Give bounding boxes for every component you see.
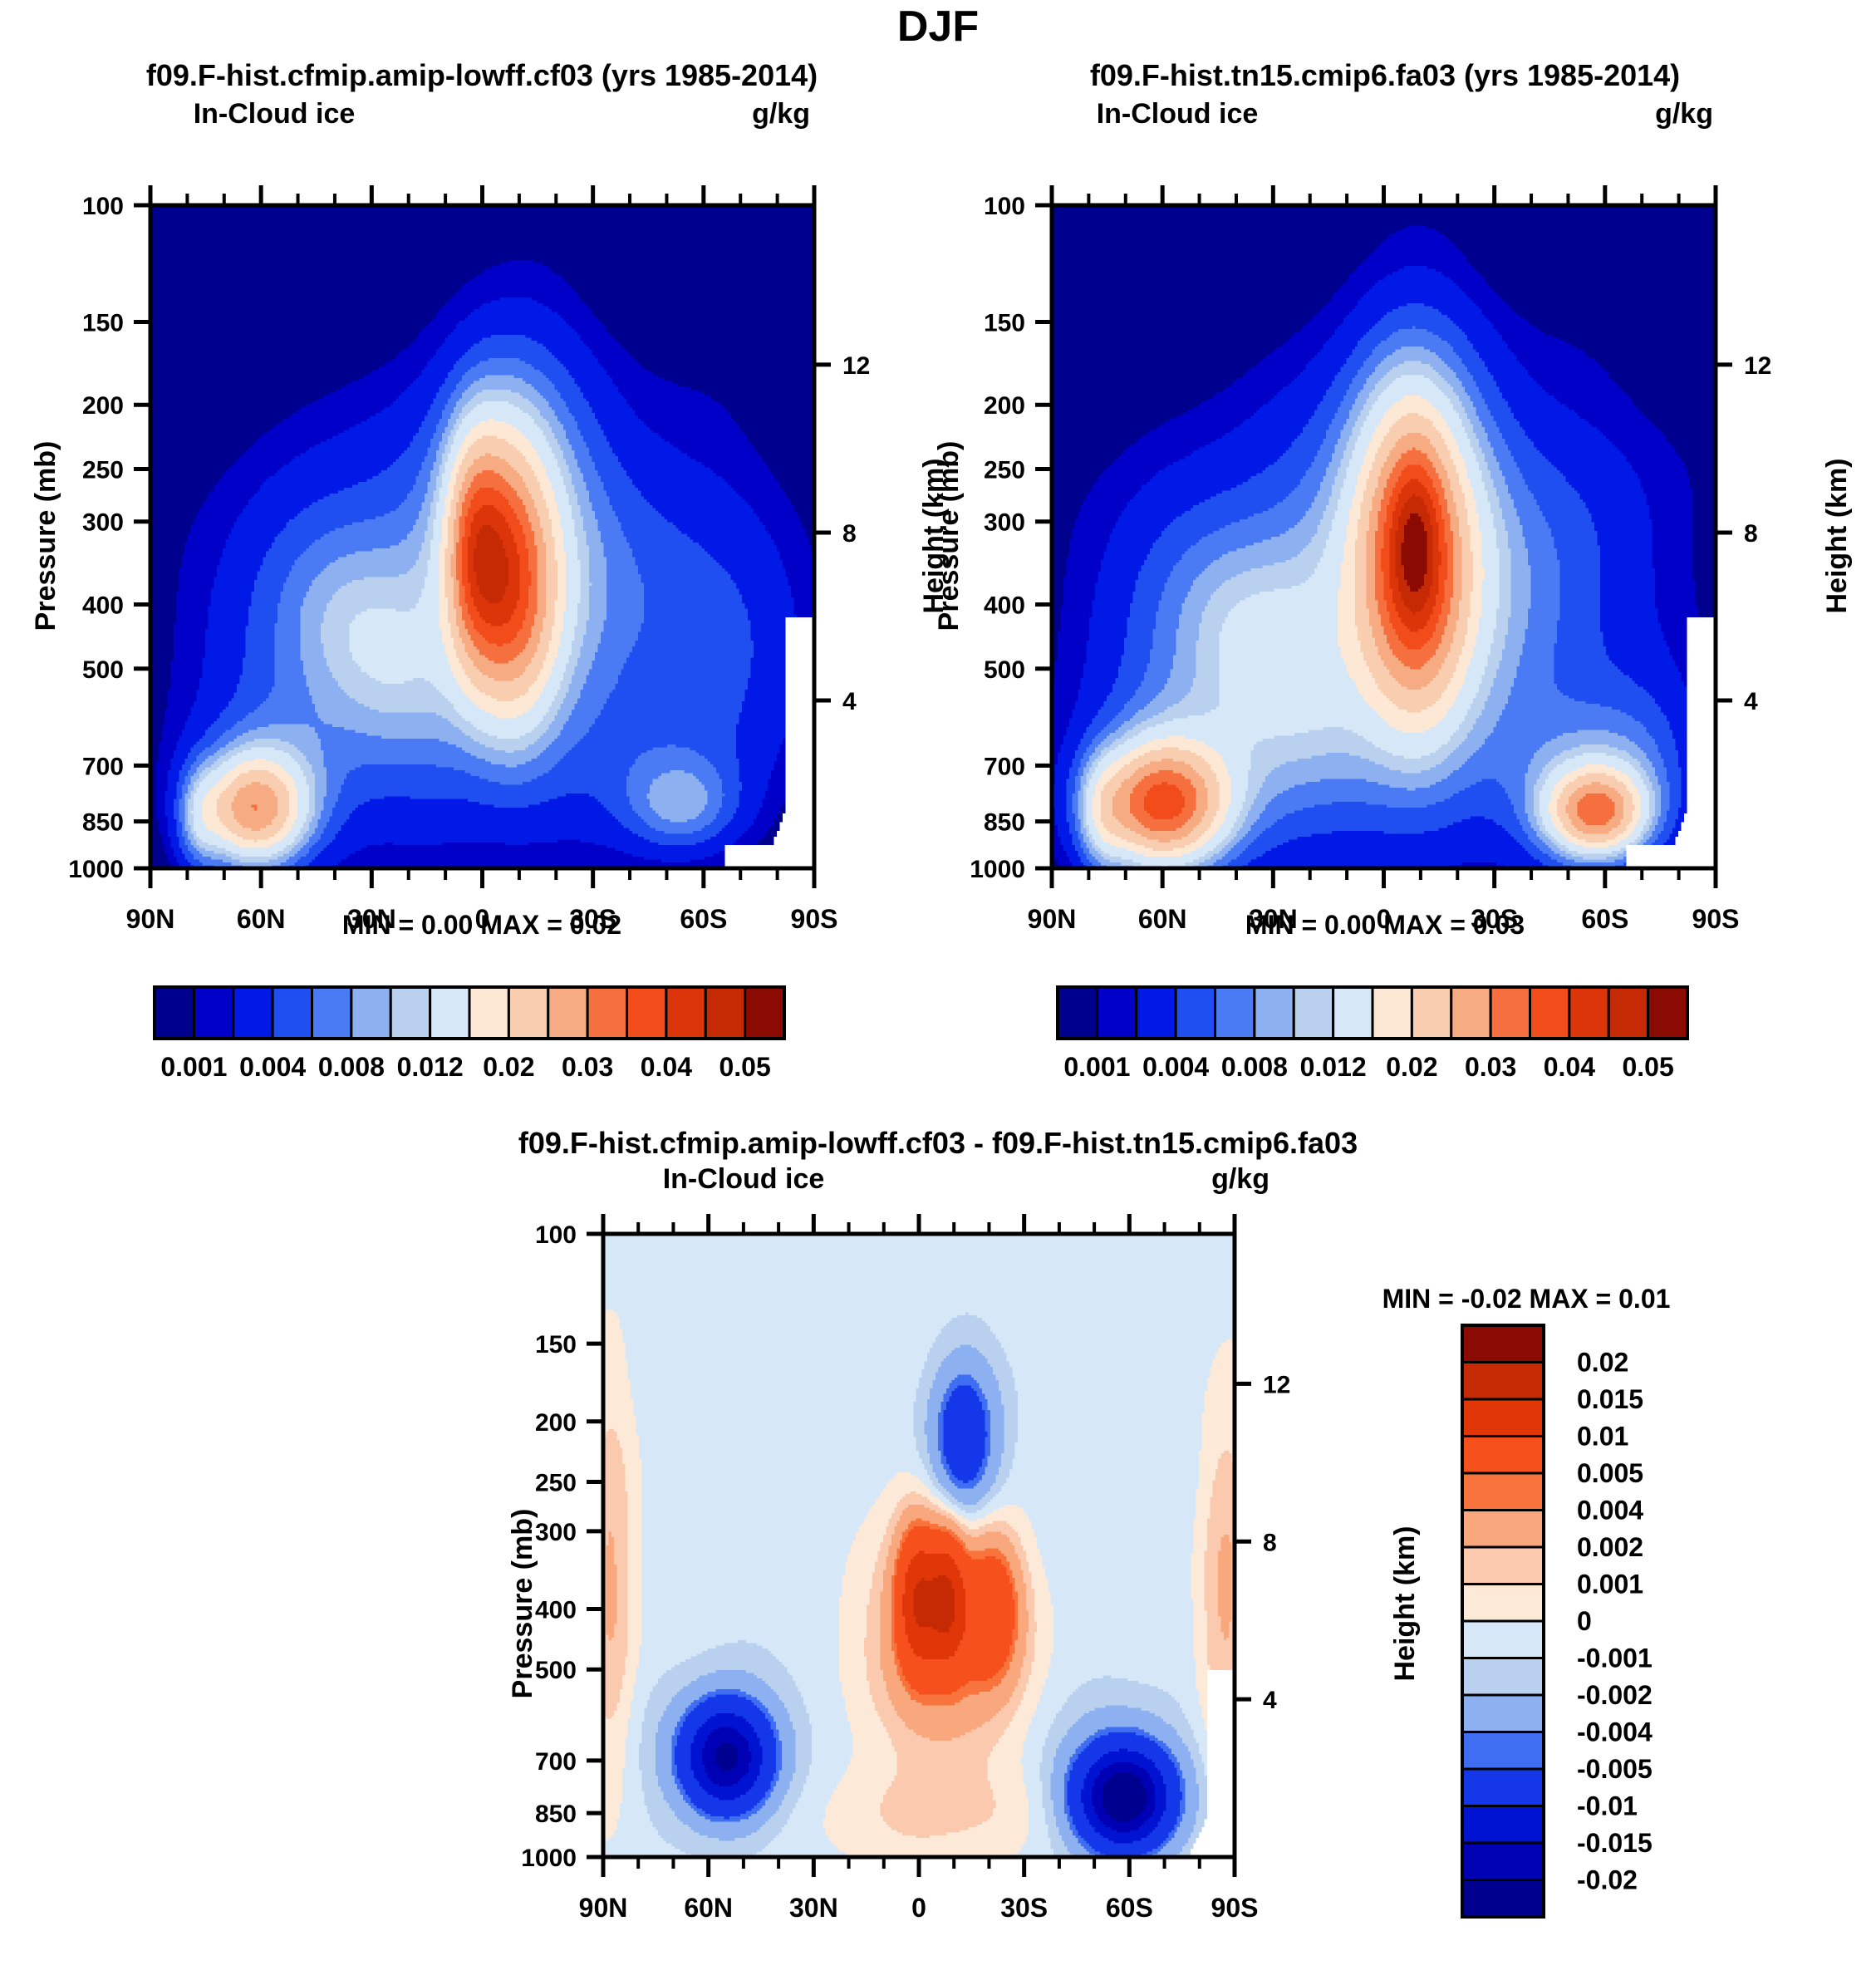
colorbar-diff-label-13: -0.015: [1577, 1828, 1653, 1858]
colorbar-label-0.004: 0.004: [239, 1052, 306, 1082]
colorbar-diff-label-2: 0.01: [1577, 1422, 1628, 1452]
colorbar-cell-10: [508, 987, 548, 1039]
colorbar-label-0.012: 0.012: [397, 1052, 464, 1082]
pressure-tick-100: 100: [535, 1221, 577, 1249]
colorbar-diff-label-10: -0.004: [1577, 1717, 1653, 1747]
contour-fill: [150, 205, 815, 869]
colorbar-cell-15: [705, 987, 744, 1039]
colorbar-cell-2: [1097, 987, 1136, 1039]
colorbar-label-0.001: 0.001: [1063, 1052, 1130, 1082]
colorbar-cell-5: [1215, 987, 1255, 1039]
pressure-tick-400: 400: [82, 592, 124, 619]
colorbar-cell-6: [351, 987, 390, 1039]
lat-tick-30N: 30N: [1249, 904, 1298, 934]
colorbar-vertical: 0.020.0150.010.0050.0040.0020.0010-0.001…: [1462, 1325, 1653, 1917]
colorbar-cell-9: [469, 987, 508, 1039]
colorbar-diff-cell-10: [1462, 1658, 1544, 1696]
colorbar-diff-label-4: 0.004: [1577, 1496, 1643, 1526]
lat-tick-90N: 90N: [579, 1893, 628, 1923]
colorbar-diff-label-12: -0.01: [1577, 1791, 1638, 1821]
height-tick-12: 12: [1744, 352, 1771, 380]
colorbar-cell-16: [1648, 987, 1687, 1039]
colorbar-diff-cell-16: [1462, 1880, 1544, 1918]
plot-right: 1001502002503004005007008501000128490N60…: [938, 0, 1876, 1105]
colorbar-cell-7: [390, 987, 430, 1039]
pressure-tick-1000: 1000: [970, 856, 1025, 883]
colorbar-diff-label-7: 0: [1577, 1606, 1592, 1636]
height-tick-4: 4: [1263, 1687, 1277, 1714]
pressure-tick-100: 100: [984, 193, 1025, 220]
colorbar-cell-1: [1058, 987, 1097, 1039]
colorbar-diff-label-1: 0.015: [1577, 1384, 1643, 1414]
colorbar-diff-cell-7: [1462, 1547, 1544, 1584]
contour-fill: [603, 1234, 1235, 1858]
colorbar-diff-label-3: 0.005: [1577, 1458, 1643, 1488]
lat-tick-90S: 90S: [1692, 904, 1740, 934]
colorbar-diff-cell-13: [1462, 1769, 1544, 1806]
pressure-tick-700: 700: [535, 1748, 577, 1776]
colorbar-cell-8: [430, 987, 469, 1039]
colorbar-label-0.012: 0.012: [1300, 1052, 1367, 1082]
colorbar-horizontal: 0.0010.0040.0080.0120.020.030.040.05: [155, 987, 784, 1082]
pressure-tick-300: 300: [82, 509, 124, 537]
pressure-tick-850: 850: [535, 1801, 577, 1828]
pressure-tick-150: 150: [535, 1331, 577, 1358]
colorbar-label-0.05: 0.05: [719, 1052, 770, 1082]
lat-tick-90N: 90N: [1028, 904, 1077, 934]
colorbar-diff-cell-3: [1462, 1399, 1544, 1437]
colorbar-diff-label-8: -0.001: [1577, 1643, 1653, 1673]
colorbar-diff-cell-1: [1462, 1325, 1544, 1363]
colorbar-cell-8: [1333, 987, 1373, 1039]
pressure-tick-150: 150: [984, 310, 1025, 337]
pressure-tick-300: 300: [984, 509, 1025, 537]
colorbar-label-0.004: 0.004: [1142, 1052, 1209, 1082]
pressure-tick-400: 400: [535, 1597, 577, 1624]
colorbar-cell-1: [155, 987, 194, 1039]
pressure-tick-150: 150: [82, 310, 124, 337]
height-tick-8: 8: [1744, 520, 1758, 548]
colorbar-diff-label-6: 0.001: [1577, 1570, 1643, 1599]
height-tick-8: 8: [842, 520, 857, 548]
lat-tick-0: 0: [1377, 904, 1392, 934]
lat-tick-60N: 60N: [1138, 904, 1187, 934]
colorbar-cell-14: [1569, 987, 1608, 1039]
pressure-tick-1000: 1000: [68, 856, 124, 883]
contour-fill: [1052, 205, 1716, 869]
height-tick-12: 12: [1263, 1371, 1290, 1398]
colorbar-cell-9: [1373, 987, 1412, 1039]
lat-tick-30N: 30N: [347, 904, 396, 934]
colorbar-cell-11: [548, 987, 587, 1039]
pressure-tick-200: 200: [82, 392, 124, 420]
colorbar-cell-4: [273, 987, 312, 1039]
pressure-tick-250: 250: [984, 457, 1025, 484]
lat-tick-30S: 30S: [569, 904, 616, 934]
pressure-tick-250: 250: [535, 1469, 577, 1496]
colorbar-cell-3: [233, 987, 273, 1039]
colorbar-diff-cell-2: [1462, 1363, 1544, 1400]
pressure-tick-500: 500: [535, 1657, 577, 1684]
pressure-tick-700: 700: [82, 753, 124, 780]
height-tick-4: 4: [842, 688, 857, 715]
height-tick-12: 12: [842, 352, 870, 380]
colorbar-label-0.03: 0.03: [1465, 1052, 1516, 1082]
colorbar-diff-label-0: 0.02: [1577, 1348, 1628, 1378]
colorbar-label-0.001: 0.001: [160, 1052, 227, 1082]
pressure-tick-500: 500: [984, 656, 1025, 684]
colorbar-diff-label-9: -0.002: [1577, 1680, 1653, 1710]
colorbar-diff-label-5: 0.002: [1577, 1532, 1643, 1562]
pressure-tick-250: 250: [82, 457, 124, 484]
lat-tick-90S: 90S: [1211, 1893, 1259, 1923]
colorbar-label-0.04: 0.04: [1544, 1052, 1595, 1082]
colorbar-cell-7: [1294, 987, 1333, 1039]
colorbar-cell-12: [587, 987, 626, 1039]
colorbar-diff-cell-8: [1462, 1584, 1544, 1622]
colorbar-diff-cell-9: [1462, 1621, 1544, 1658]
colorbar-cell-6: [1255, 987, 1294, 1039]
lat-tick-0: 0: [475, 904, 490, 934]
colorbar-cell-2: [194, 987, 233, 1039]
colorbar-cell-14: [666, 987, 705, 1039]
pressure-tick-850: 850: [82, 809, 124, 837]
colorbar-diff-cell-6: [1462, 1511, 1544, 1548]
pressure-tick-200: 200: [535, 1409, 577, 1437]
colorbar-cell-16: [745, 987, 784, 1039]
lat-tick-60N: 60N: [684, 1893, 733, 1923]
pressure-tick-100: 100: [82, 193, 124, 220]
lat-tick-30N: 30N: [789, 1893, 838, 1923]
colorbar-label-0.008: 0.008: [318, 1052, 385, 1082]
colorbar-cell-10: [1412, 987, 1451, 1039]
lat-tick-30S: 30S: [1471, 904, 1518, 934]
lat-tick-60S: 60S: [680, 904, 727, 934]
colorbar-cell-4: [1176, 987, 1215, 1039]
colorbar-diff-cell-15: [1462, 1843, 1544, 1880]
colorbar-diff-label-14: -0.02: [1577, 1865, 1638, 1895]
pressure-tick-200: 200: [984, 392, 1025, 420]
colorbar-diff-label-11: -0.005: [1577, 1754, 1653, 1784]
colorbar-diff-cell-11: [1462, 1695, 1544, 1732]
colorbar-label-0.04: 0.04: [641, 1052, 692, 1082]
plot-diff: 1001502002503004005007008501000128490N60…: [0, 1105, 1876, 1980]
pressure-tick-700: 700: [984, 753, 1025, 780]
colorbar-label-0.008: 0.008: [1221, 1052, 1288, 1082]
colorbar-label-0.05: 0.05: [1622, 1052, 1673, 1082]
pressure-tick-1000: 1000: [521, 1845, 577, 1872]
lat-tick-60S: 60S: [1581, 904, 1628, 934]
height-tick-8: 8: [1263, 1529, 1277, 1556]
lat-tick-30S: 30S: [1000, 1893, 1048, 1923]
colorbar-diff-cell-4: [1462, 1437, 1544, 1474]
lat-tick-60N: 60N: [237, 904, 286, 934]
colorbar-cell-13: [627, 987, 666, 1039]
colorbar-label-0.03: 0.03: [562, 1052, 613, 1082]
colorbar-diff-cell-5: [1462, 1473, 1544, 1511]
colorbar-cell-5: [312, 987, 351, 1039]
pressure-tick-500: 500: [82, 656, 124, 684]
colorbar-diff-cell-12: [1462, 1732, 1544, 1770]
lat-tick-90S: 90S: [791, 904, 838, 934]
pressure-tick-850: 850: [984, 809, 1025, 837]
colorbar-cell-15: [1608, 987, 1648, 1039]
lat-tick-60S: 60S: [1106, 1893, 1153, 1923]
lat-tick-0: 0: [911, 1893, 926, 1923]
colorbar-cell-13: [1530, 987, 1569, 1039]
pressure-tick-300: 300: [535, 1519, 577, 1546]
plot-left: 1001502002503004005007008501000128490N60…: [0, 0, 938, 1105]
colorbar-cell-12: [1490, 987, 1530, 1039]
colorbar-cell-11: [1451, 987, 1490, 1039]
colorbar-cell-3: [1137, 987, 1176, 1039]
figure-root: DJF f09.F-hist.cfmip.amip-lowff.cf03 (yr…: [0, 0, 1876, 1980]
height-tick-4: 4: [1744, 688, 1758, 715]
lat-tick-90N: 90N: [126, 904, 175, 934]
colorbar-label-0.02: 0.02: [1386, 1052, 1437, 1082]
colorbar-label-0.02: 0.02: [483, 1052, 534, 1082]
colorbar-horizontal: 0.0010.0040.0080.0120.020.030.040.05: [1058, 987, 1687, 1082]
colorbar-diff-cell-14: [1462, 1806, 1544, 1844]
pressure-tick-400: 400: [984, 592, 1025, 619]
